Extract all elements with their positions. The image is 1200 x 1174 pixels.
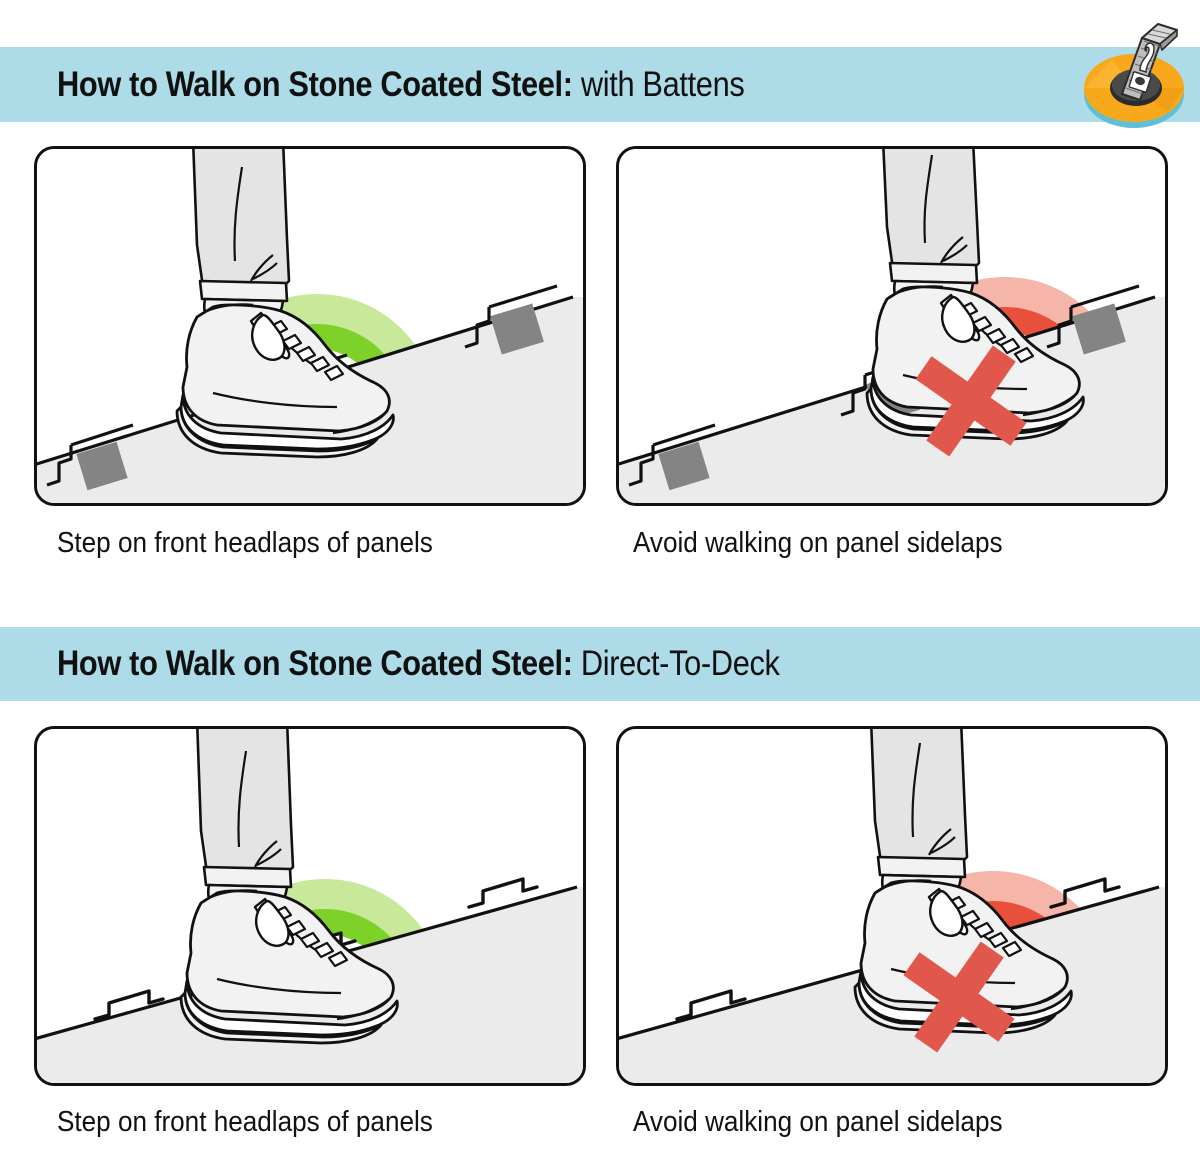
leg-and-pant <box>871 729 967 865</box>
battens-bad-illustration <box>619 149 1165 503</box>
illustration-panel-deck-bad <box>616 726 1168 1086</box>
section-title-light-1: with Battens <box>573 65 745 104</box>
section-title-with-battens: How to Walk on Stone Coated Steel: with … <box>57 65 744 105</box>
leg-and-pant <box>193 149 289 289</box>
battens-good-illustration <box>37 149 583 503</box>
deck-good-illustration <box>37 729 583 1083</box>
illustration-panel-deck-good <box>34 726 586 1086</box>
section-header-direct-to-deck: How to Walk on Stone Coated Steel: Direc… <box>0 627 1200 701</box>
deck-bad-illustration <box>619 729 1165 1083</box>
caption-deck-good: Step on front headlaps of panels <box>57 1106 433 1139</box>
leg-and-pant <box>883 149 979 271</box>
section-title-direct-to-deck: How to Walk on Stone Coated Steel: Direc… <box>57 644 780 684</box>
infographic-page: How to Walk on Stone Coated Steel: with … <box>0 0 1200 1174</box>
section-title-strong-1: How to Walk on Stone Coated Steel: <box>57 65 573 104</box>
caption-battens-bad: Avoid walking on panel sidelaps <box>633 527 1003 560</box>
section-header-with-battens: How to Walk on Stone Coated Steel: with … <box>0 47 1200 122</box>
caption-battens-good: Step on front headlaps of panels <box>57 527 433 560</box>
section-title-strong-2: How to Walk on Stone Coated Steel: <box>57 644 573 683</box>
leg-and-pant <box>197 729 293 875</box>
illustration-panel-battens-bad <box>616 146 1168 506</box>
section-title-light-2: Direct-To-Deck <box>573 644 780 683</box>
illustration-panel-battens-good <box>34 146 586 506</box>
caption-deck-bad: Avoid walking on panel sidelaps <box>633 1106 1003 1139</box>
